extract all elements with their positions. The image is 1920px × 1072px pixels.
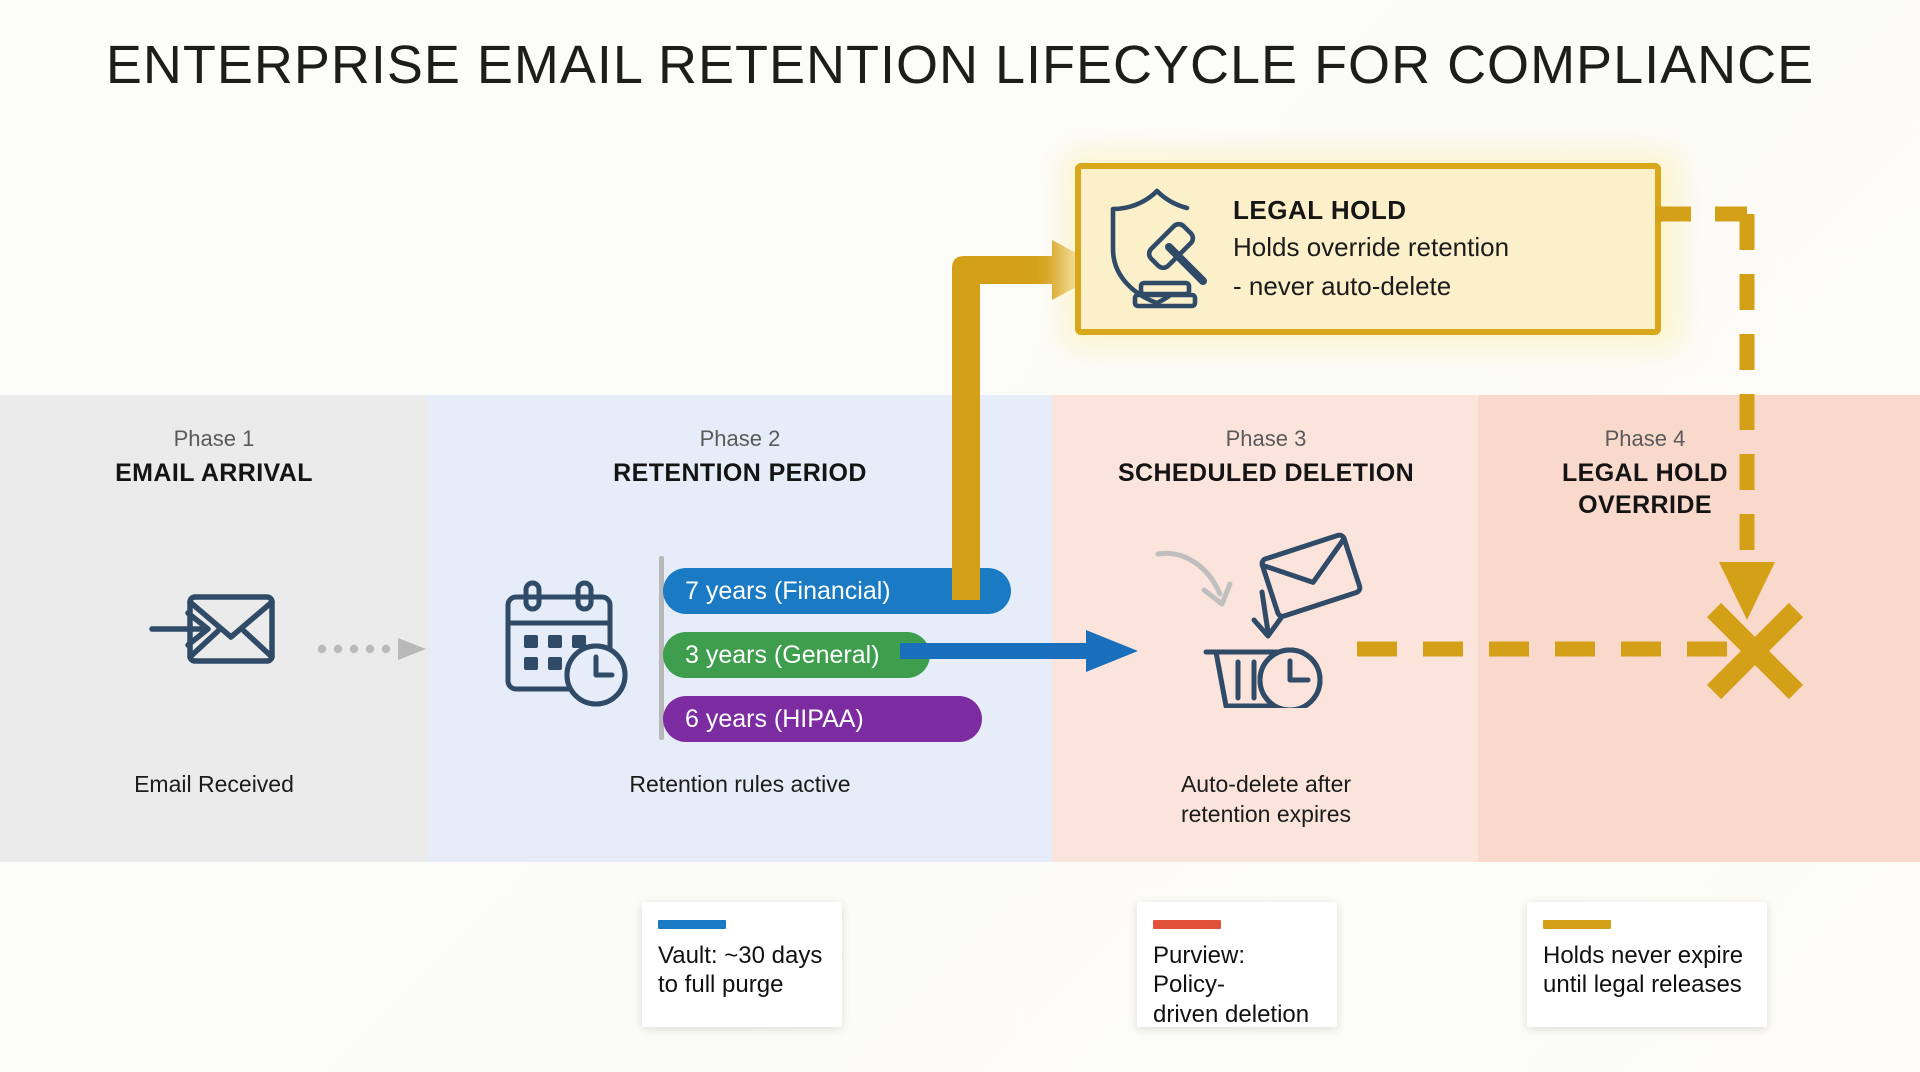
- phase-1-title: EMAIL ARRIVAL: [44, 457, 384, 489]
- legal-hold-line-1: Holds override retention: [1233, 230, 1509, 265]
- legend-vault-line-2: to full purge: [658, 970, 826, 999]
- retention-bar-hipaa-label: 6 years (HIPAA): [685, 705, 864, 734]
- legend-card-holds: Holds never expire until legal releases: [1527, 902, 1767, 1027]
- phase-1-heading: Phase 1 EMAIL ARRIVAL: [44, 425, 384, 489]
- phase-3-kicker: Phase 3: [1054, 425, 1478, 453]
- x-mark-icon: [1700, 596, 1810, 706]
- legend-card-purview: Purview: Policy- driven deletion: [1137, 902, 1337, 1027]
- legend-swatch-purview: [1153, 920, 1221, 929]
- legend-vault-line-1: Vault: ~30 days: [658, 941, 826, 970]
- trash-clock-envelope-icon: [1150, 528, 1380, 713]
- legend-swatch-vault: [658, 920, 726, 929]
- legend-purview-line-1: Purview: Policy-: [1153, 941, 1321, 1000]
- phase-3-caption: Auto-delete after retention expires: [1054, 770, 1478, 830]
- retention-bar-financial-label: 7 years (Financial): [685, 577, 891, 606]
- blue-flow-arrow: [900, 628, 1140, 674]
- retention-bar-general: 3 years (General): [663, 632, 930, 678]
- legend-holds-line-1: Holds never expire: [1543, 941, 1751, 970]
- legal-hold-callout: LEGAL HOLD Holds override retention - ne…: [1075, 163, 1661, 335]
- phase-3-heading: Phase 3 SCHEDULED DELETION: [1054, 425, 1478, 489]
- retention-bar-general-label: 3 years (General): [685, 641, 880, 670]
- phase-1-caption-line-1: Email Received: [44, 770, 384, 800]
- shield-gavel-icon: [1099, 183, 1219, 316]
- legal-hold-line-2: - never auto-delete: [1233, 269, 1509, 304]
- dotted-connector-arrow: [318, 638, 428, 660]
- phase-3-title: SCHEDULED DELETION: [1054, 457, 1478, 489]
- legal-hold-title: LEGAL HOLD: [1233, 195, 1509, 226]
- phase-2-caption-line-1: Retention rules active: [430, 770, 1050, 800]
- calendar-clock-icon: [498, 575, 638, 720]
- legend-swatch-holds: [1543, 920, 1611, 929]
- retention-bar-hipaa: 6 years (HIPAA): [663, 696, 982, 742]
- diagram-canvas: ENTERPRISE EMAIL RETENTION LIFECYCLE FOR…: [0, 0, 1920, 1072]
- incoming-envelope-icon: [148, 575, 278, 690]
- phase-3-caption-line-2: retention expires: [1054, 800, 1478, 830]
- page-title: ENTERPRISE EMAIL RETENTION LIFECYCLE FOR…: [0, 34, 1920, 96]
- phase-1-caption: Email Received: [44, 770, 384, 800]
- phase-3-caption-line-1: Auto-delete after: [1054, 770, 1478, 800]
- legend-purview-line-2: driven deletion: [1153, 1000, 1321, 1029]
- phase-2-caption: Retention rules active: [430, 770, 1050, 800]
- legend-holds-line-2: until legal releases: [1543, 970, 1751, 999]
- phase-1-kicker: Phase 1: [44, 425, 384, 453]
- legend-card-vault: Vault: ~30 days to full purge: [642, 902, 842, 1027]
